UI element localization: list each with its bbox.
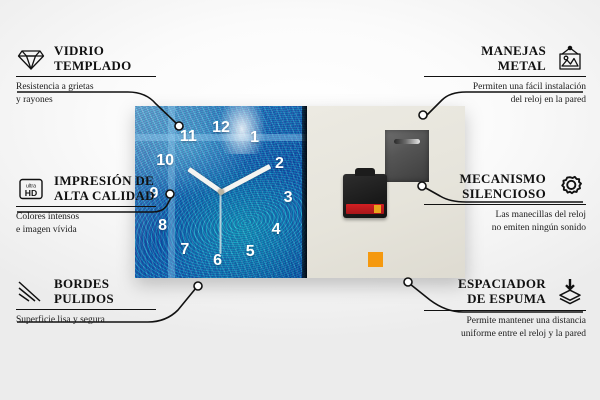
clock-number: 8 (158, 218, 167, 234)
grid-line-vertical (168, 106, 175, 278)
feature-title: BORDES PULIDOS (54, 277, 114, 306)
feature-description: Permiten una fácil instalación del reloj… (424, 81, 586, 105)
mechanism-hook-tab (355, 168, 375, 176)
diagonal-lines-icon (16, 279, 46, 305)
clock-number: 11 (180, 129, 197, 145)
clock-number: 6 (213, 253, 222, 269)
feature-description: Las manecillas del reloj no emiten ningú… (424, 209, 586, 233)
feature-description: Permite mantener una distancia uniforme … (424, 315, 586, 339)
feature-divider (16, 309, 156, 310)
foam-spacer (368, 252, 383, 267)
feature-description: Superficie lisa y segura (16, 314, 156, 326)
feature-divider (424, 204, 586, 205)
connector-dot-bordes (194, 282, 202, 290)
feature-divider (424, 310, 586, 311)
clock-center-pin (218, 189, 224, 195)
feature-vidrio-templado: VIDRIO TEMPLADO Resistencia a grietas y … (16, 44, 156, 106)
clock-number: 1 (250, 130, 259, 146)
ultra-hd-icon: ultra HD (16, 176, 46, 202)
feature-title: ESPACIADOR DE ESPUMA (424, 277, 546, 306)
feature-impresion-alta-calidad: ultra HD IMPRESIÓN DE ALTA CALIDAD Color… (16, 174, 156, 236)
feature-description: Colores intensos e imagen vívida (16, 211, 156, 235)
feature-title: IMPRESIÓN DE ALTA CALIDAD (54, 174, 155, 203)
battery-terminal (374, 205, 381, 213)
product-photo: 12 1 2 3 4 5 6 7 8 9 10 11 (135, 106, 465, 278)
hanger-slot (394, 139, 420, 144)
feature-manejas-metal: MANEJAS METAL Permiten una fácil instala… (424, 44, 586, 106)
feature-title: MECANISMO SILENCIOSO (424, 172, 546, 201)
svg-text:HD: HD (25, 188, 37, 198)
feature-divider (16, 206, 156, 207)
clock-number: 5 (246, 244, 255, 260)
clock-number: 7 (180, 242, 189, 258)
feature-mecanismo-silencioso: MECANISMO SILENCIOSO Las manecillas del … (424, 172, 586, 234)
clock-number: 4 (272, 222, 281, 238)
infographic-canvas: 12 1 2 3 4 5 6 7 8 9 10 11 (0, 0, 600, 400)
feature-description: Resistencia a grietas y rayones (16, 81, 156, 105)
feature-divider (16, 76, 156, 77)
clock-front-face: 12 1 2 3 4 5 6 7 8 9 10 11 (135, 106, 307, 278)
feature-bordes-pulidos: BORDES PULIDOS Superficie lisa y segura (16, 277, 156, 327)
diamond-icon (16, 46, 46, 72)
clock-number: 10 (156, 153, 174, 169)
gear-icon (554, 173, 586, 201)
feature-divider (424, 76, 586, 77)
arrow-down-stack-icon (554, 277, 586, 307)
clock-number: 12 (212, 120, 230, 136)
metal-hanger-plate (385, 130, 429, 182)
clock-mechanism (343, 174, 387, 218)
feature-espaciador-espuma: ESPACIADOR DE ESPUMA Permite mantener un… (424, 277, 586, 340)
clock-number: 2 (275, 156, 284, 172)
feature-title: MANEJAS METAL (424, 44, 546, 73)
battery-compartment (346, 204, 384, 214)
clock-number: 3 (284, 190, 293, 206)
connector-dot-espaciador (404, 278, 412, 286)
feature-title: VIDRIO TEMPLADO (54, 44, 132, 73)
picture-frame-hanging-icon (554, 45, 586, 73)
